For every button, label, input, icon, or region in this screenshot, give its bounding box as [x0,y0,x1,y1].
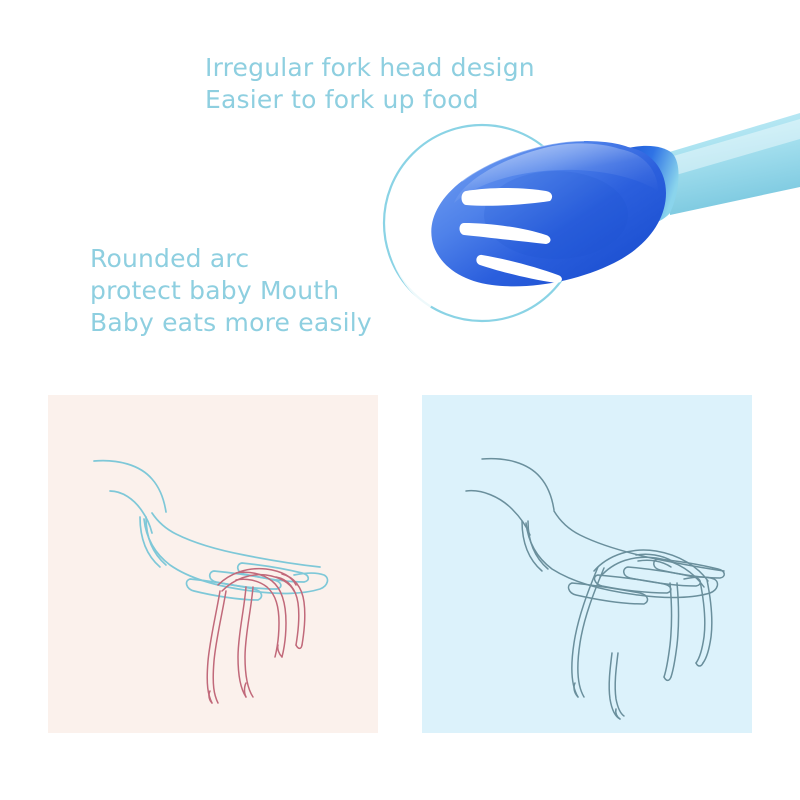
panel-noodles-held [422,395,752,733]
headline-line-1: Irregular fork head design [205,52,535,84]
headline-line-3: Baby eats more easily [90,307,372,339]
fork-line-art [466,459,724,604]
headline-rounded-arc: Rounded arc protect baby Mouth Baby eats… [90,243,372,338]
product-photo-spork [370,95,800,360]
product-feature-image: Irregular fork head design Easier to for… [0,0,800,800]
headline-line-2: protect baby Mouth [90,275,372,307]
panel-noodles-slipping [48,395,378,733]
headline-line-1: Rounded arc [90,243,372,275]
spork-head-bowl [431,141,666,286]
spork-handle [666,113,800,215]
